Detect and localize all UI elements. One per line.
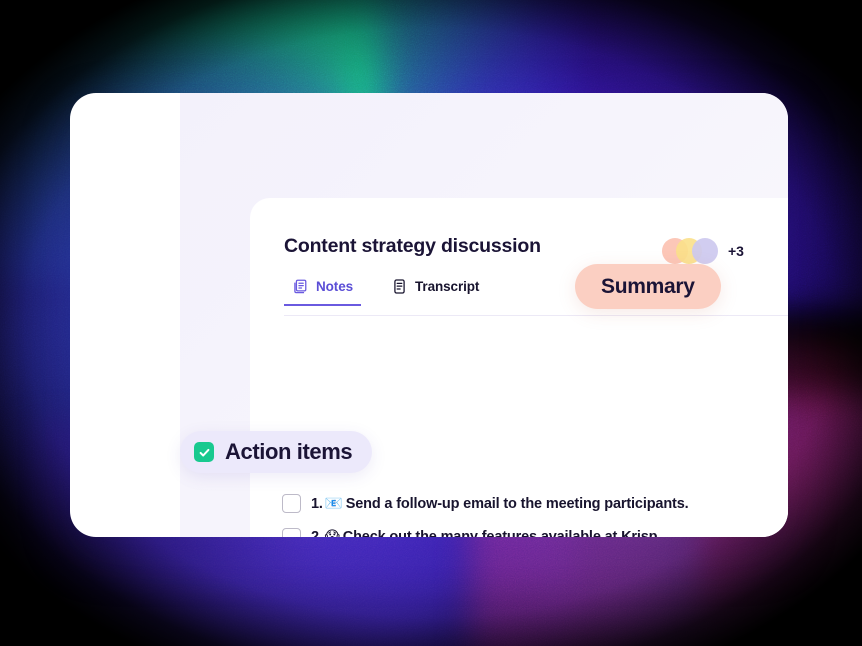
checkbox-unchecked-icon[interactable] bbox=[282, 528, 301, 538]
action-items-list: 1.📧Send a follow-up email to the meeting… bbox=[282, 486, 776, 537]
tab-bar-divider bbox=[284, 315, 788, 316]
summary-badge[interactable]: Summary bbox=[575, 264, 721, 309]
page-title: Content strategy discussion bbox=[284, 235, 541, 258]
list-item-number: 2. bbox=[311, 529, 323, 537]
summary-badge-label: Summary bbox=[601, 275, 695, 299]
avatar[interactable] bbox=[692, 238, 718, 264]
list-item-label: Send a follow-up email to the meeting pa… bbox=[346, 496, 689, 512]
action-items-badge[interactable]: Action items bbox=[180, 431, 372, 473]
list-item-text: 1.📧Send a follow-up email to the meeting… bbox=[311, 495, 689, 512]
list-item[interactable]: 2.😱Check out the many features available… bbox=[282, 520, 776, 537]
participants-group[interactable]: +3 bbox=[662, 238, 744, 264]
tab-notes-label: Notes bbox=[316, 279, 353, 294]
tab-notes[interactable]: Notes bbox=[284, 278, 361, 306]
screaming-face-emoji: 😱 bbox=[325, 529, 340, 537]
list-item-number: 1. bbox=[311, 496, 323, 512]
list-item-label: Check out the many features available at… bbox=[343, 529, 658, 537]
email-emoji: 📧 bbox=[325, 496, 343, 512]
checkbox-checked-icon bbox=[194, 442, 214, 462]
list-item[interactable]: 1.📧Send a follow-up email to the meeting… bbox=[282, 486, 776, 520]
list-item-text: 2.😱Check out the many features available… bbox=[311, 529, 657, 537]
action-items-label: Action items bbox=[225, 439, 352, 465]
panel-header: Content strategy discussion +3 bbox=[284, 218, 788, 268]
participants-overflow-count: +3 bbox=[728, 243, 744, 259]
document-list-icon bbox=[391, 278, 408, 295]
tab-transcript[interactable]: Transcript bbox=[383, 278, 487, 304]
avatar-stack[interactable] bbox=[662, 238, 720, 264]
tab-transcript-label: Transcript bbox=[415, 279, 479, 294]
meeting-notes-card: Content strategy discussion +3 bbox=[70, 93, 788, 537]
sticky-notes-icon bbox=[292, 278, 309, 295]
screenshot-stage: Content strategy discussion +3 bbox=[0, 0, 862, 646]
checkbox-unchecked-icon[interactable] bbox=[282, 494, 301, 513]
